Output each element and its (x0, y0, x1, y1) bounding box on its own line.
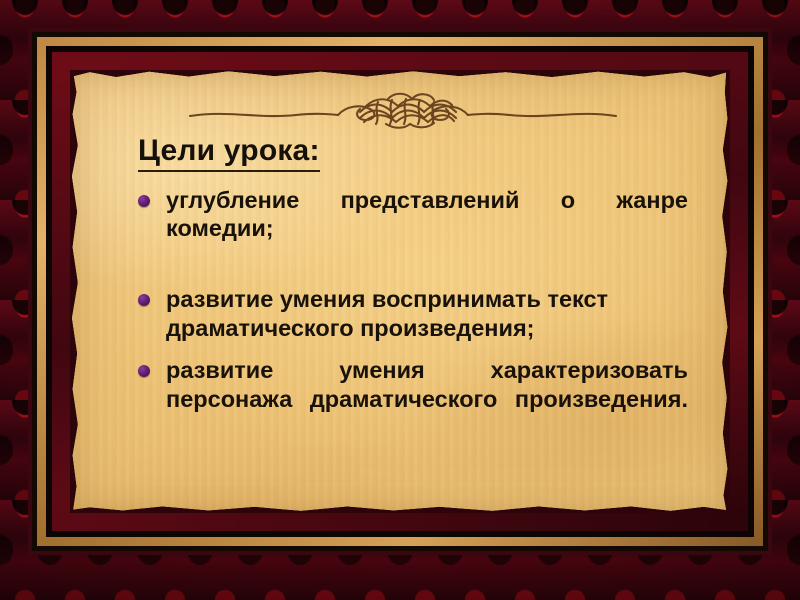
purple-bullet-dot (138, 195, 150, 207)
picture-frame-band-black: Цели урока: углубление представлений о ж… (46, 46, 754, 537)
list-item: развитие умения воспринимать текст драма… (136, 285, 688, 343)
purple-bullet-dot (138, 294, 150, 306)
list-item-text: углубление представлений о жанре комедии… (166, 186, 688, 273)
slide-content: Цели урока: углубление представлений о ж… (70, 70, 730, 513)
slide-canvas: Цели урока: углубление представлений о ж… (0, 0, 800, 600)
picture-frame-band-gold: Цели урока: углубление представлений о ж… (37, 37, 763, 546)
parchment-area: Цели урока: углубление представлений о ж… (70, 70, 730, 513)
goals-list: углубление представлений о жанре комедии… (116, 186, 690, 443)
page-title-row: Цели урока: (116, 134, 690, 176)
page-title: Цели урока: (138, 134, 320, 172)
celtic-knot-ornament (116, 88, 690, 132)
list-item: углубление представлений о жанре комедии… (136, 186, 688, 273)
picture-frame-band-tan: Цели урока: углубление представлений о ж… (32, 32, 768, 551)
list-item: развитие умения характеризовать персонаж… (136, 356, 688, 443)
picture-frame-mat-red: Цели урока: углубление представлений о ж… (52, 52, 748, 531)
picture-frame-band-brown: Цели урока: углубление представлений о ж… (32, 32, 768, 551)
list-item-text: развитие умения характеризовать персонаж… (166, 356, 688, 443)
list-item-text: развитие умения воспринимать текст драма… (166, 286, 608, 341)
picture-frame-outer: Цели урока: углубление представлений о ж… (28, 28, 772, 555)
purple-bullet-dot (138, 365, 150, 377)
